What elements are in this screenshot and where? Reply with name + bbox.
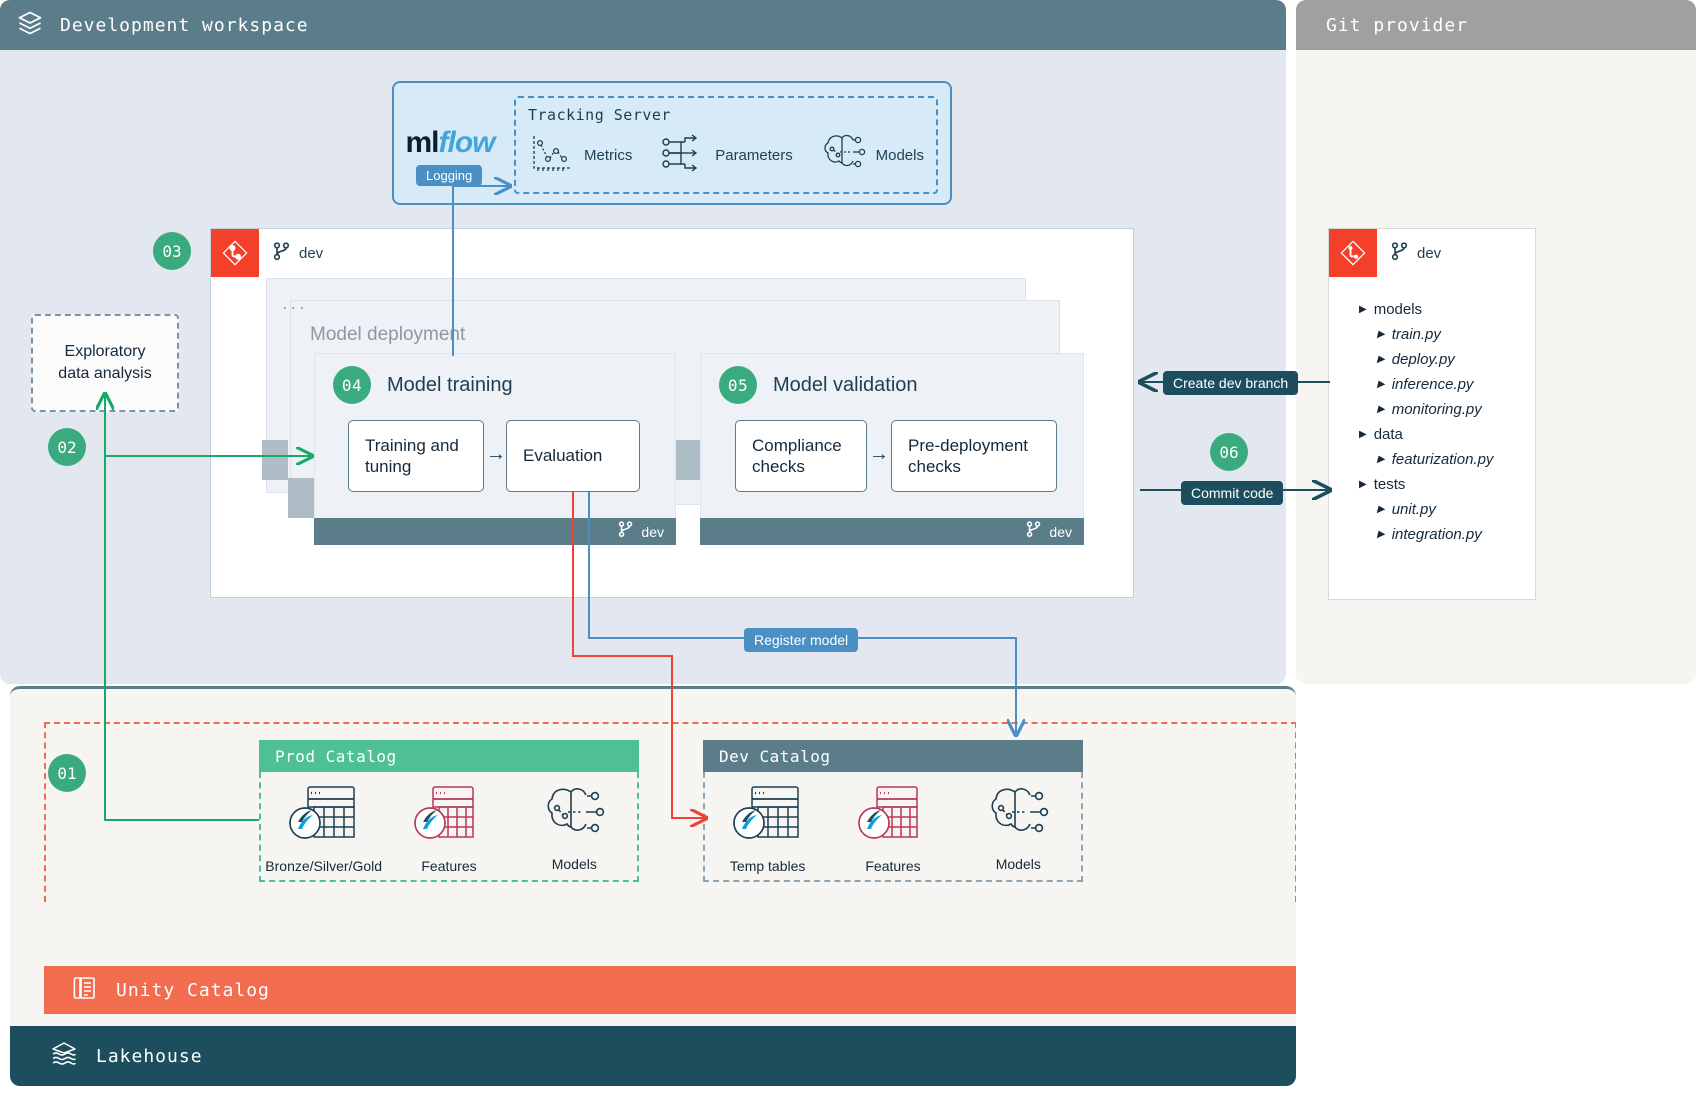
- git-diamond-icon: [1329, 229, 1377, 277]
- tree-item-monitoring-py[interactable]: ▶ monitoring.py: [1359, 401, 1493, 418]
- eda-line-1: Exploratory: [58, 341, 151, 363]
- tree-item-label: featurization.py: [1392, 451, 1494, 468]
- brain-model-icon: [820, 131, 866, 180]
- caret-right-icon: ▶: [1377, 529, 1385, 540]
- development-workspace-header: Development workspace: [0, 0, 1286, 50]
- create-dev-branch-chip: Create dev branch: [1163, 371, 1298, 395]
- catalog-item-label: Models: [552, 856, 597, 872]
- tracking-item-models: Models: [820, 131, 924, 180]
- git-provider-title: Git provider: [1326, 15, 1468, 36]
- tracking-item-label: Metrics: [584, 147, 632, 164]
- step-box-evaluation: Evaluation: [506, 420, 640, 492]
- tree-item-label: unit.py: [1392, 501, 1436, 518]
- catalog-item-label: Temp tables: [730, 858, 805, 874]
- caret-right-icon: ▶: [1377, 379, 1385, 390]
- git-branch-icon: [618, 520, 634, 543]
- layers-icon: [16, 9, 44, 42]
- eda-line-2: data analysis: [58, 363, 151, 385]
- brain-model-icon: [541, 784, 607, 849]
- delta-table-icon: [731, 784, 805, 851]
- git-branch-icon: [1026, 520, 1042, 543]
- git-file-tree: ▶ models ▶ train.py ▶ deploy.py ▶ infere…: [1359, 301, 1493, 551]
- tree-item-label: tests: [1374, 476, 1406, 493]
- tree-item-data[interactable]: ▶ data: [1359, 426, 1493, 443]
- tree-item-train-py[interactable]: ▶ train.py: [1359, 326, 1493, 343]
- git-repo-card: dev ▶ models ▶ train.py ▶ deploy.py ▶ in…: [1328, 228, 1536, 600]
- step-line-2: checks: [908, 456, 1028, 477]
- stack-tab-c: [676, 440, 702, 480]
- catalog-item-features: Features: [394, 784, 504, 874]
- catalog-item-label: Features: [421, 858, 476, 874]
- step-badge-06: 06: [1210, 433, 1248, 471]
- stage-footer-04: dev: [314, 518, 676, 545]
- commit-code-chip: Commit code: [1181, 481, 1283, 505]
- tree-item-deploy-py[interactable]: ▶ deploy.py: [1359, 351, 1493, 368]
- tree-item-label: data: [1374, 426, 1403, 443]
- stack-tab-a: [262, 440, 288, 480]
- brain-model-icon: [985, 784, 1051, 849]
- stage-footer-branch: dev: [1049, 524, 1072, 540]
- tree-item-models[interactable]: ▶ models: [1359, 301, 1493, 318]
- step-box-compliance-checks: Compliance checks: [735, 420, 867, 492]
- tree-item-label: monitoring.py: [1392, 401, 1482, 418]
- stage-number-badge: 04: [333, 366, 371, 404]
- tracking-item-label: Models: [876, 147, 924, 164]
- tracking-item-label: Parameters: [715, 147, 793, 164]
- step-line-1: Compliance: [752, 435, 842, 456]
- caret-right-icon: ▶: [1377, 404, 1385, 415]
- git-provider-header: Git provider: [1296, 0, 1696, 50]
- overflow-dots: ...: [282, 292, 308, 315]
- lakehouse-bar: Lakehouse: [10, 1026, 1296, 1086]
- register-model-chip: Register model: [744, 628, 858, 652]
- git-diamond-icon: [211, 229, 259, 277]
- lakehouse-panel: Unity Catalog Lakehouse: [10, 686, 1296, 1086]
- model-deployment-label: Model deployment: [310, 324, 465, 346]
- stage-footer-05: dev: [700, 518, 1084, 545]
- step-box-pre-deployment-checks: Pre-deployment checks: [891, 420, 1057, 492]
- catalog-book-icon: [72, 974, 98, 1007]
- mlflow-logo: mlflow: [394, 126, 506, 160]
- tree-item-label: inference.py: [1392, 376, 1474, 393]
- caret-right-icon: ▶: [1359, 429, 1367, 440]
- catalog-item-label: Features: [865, 858, 920, 874]
- step-line-2: tuning: [365, 456, 459, 477]
- dev-catalog: Dev Catalog Temp tables: [703, 740, 1083, 882]
- git-branch-icon: [273, 241, 291, 266]
- catalog-item-models: Models: [963, 784, 1073, 872]
- feature-table-icon: [856, 784, 930, 851]
- metrics-chart-icon: [528, 130, 574, 181]
- delta-table-icon: [287, 784, 361, 851]
- tree-item-inference-py[interactable]: ▶ inference.py: [1359, 376, 1493, 393]
- mlflow-logo-flow: flow: [439, 126, 495, 159]
- caret-right-icon: ▶: [1359, 479, 1367, 490]
- unity-catalog-bar: Unity Catalog: [44, 966, 1296, 1014]
- git-card-branch-label: dev: [1417, 245, 1441, 262]
- step-line-1: Evaluation: [523, 445, 602, 466]
- step-line-2: checks: [752, 456, 842, 477]
- tree-item-tests[interactable]: ▶ tests: [1359, 476, 1493, 493]
- prod-catalog: Prod Catalog Bronze/Silver/Gold: [259, 740, 639, 882]
- step-line-1: Training and: [365, 435, 459, 456]
- unity-catalog-title: Unity Catalog: [116, 980, 270, 1001]
- step-badge-02: 02: [48, 428, 86, 466]
- tree-item-featurization-py[interactable]: ▶ featurization.py: [1359, 451, 1493, 468]
- catalog-item-temp-tables: Temp tables: [713, 784, 823, 874]
- git-card-branch: dev: [1391, 241, 1441, 266]
- catalog-item-label: Models: [996, 856, 1041, 872]
- lakehouse-icon: [50, 1040, 78, 1073]
- catalog-item-bronze-silver-gold: Bronze/Silver/Gold: [269, 784, 379, 874]
- git-branch-icon: [1391, 241, 1409, 266]
- catalog-item-label: Bronze/Silver/Gold: [265, 858, 382, 874]
- stage-footer-branch: dev: [641, 524, 664, 540]
- tree-item-integration-py[interactable]: ▶ integration.py: [1359, 526, 1493, 543]
- mlflow-logo-ml: ml: [405, 126, 438, 159]
- mlflow-card: mlflow Tracking Server Metrics: [392, 81, 952, 205]
- repo-branch-label: dev: [299, 245, 323, 262]
- catalog-item-features: Features: [838, 784, 948, 874]
- tracking-item-parameters: Parameters: [659, 133, 793, 178]
- tree-item-label: deploy.py: [1392, 351, 1455, 368]
- catalog-item-models: Models: [519, 784, 629, 872]
- stage-title: Model training: [387, 374, 513, 397]
- tree-item-label: integration.py: [1392, 526, 1482, 543]
- tracking-server-box: Tracking Server Metrics: [514, 96, 938, 194]
- tree-item-label: train.py: [1392, 326, 1441, 343]
- parameters-icon: [659, 133, 705, 178]
- repo-branch: dev: [273, 241, 323, 266]
- caret-right-icon: ▶: [1377, 454, 1385, 465]
- exploratory-data-analysis-box: Exploratory data analysis: [31, 314, 179, 412]
- feature-table-icon: [412, 784, 486, 851]
- stage-number-badge: 05: [719, 366, 757, 404]
- lakehouse-title: Lakehouse: [96, 1046, 203, 1067]
- tree-item-unit-py[interactable]: ▶ unit.py: [1359, 501, 1493, 518]
- dev-catalog-title: Dev Catalog: [703, 740, 1083, 772]
- step-line-1: Pre-deployment: [908, 435, 1028, 456]
- tracking-server-title: Tracking Server: [528, 106, 924, 124]
- caret-right-icon: ▶: [1377, 354, 1385, 365]
- arrow-right-icon: →: [869, 443, 889, 466]
- arrow-right-icon: →: [486, 443, 506, 466]
- prod-catalog-title: Prod Catalog: [259, 740, 639, 772]
- unity-catalog-scope-boundary: [44, 722, 1296, 902]
- tree-item-label: models: [1374, 301, 1422, 318]
- step-badge-01: 01: [48, 754, 86, 792]
- stage-title: Model validation: [773, 374, 918, 397]
- stack-tab-b: [288, 478, 314, 518]
- caret-right-icon: ▶: [1377, 329, 1385, 340]
- logging-chip: Logging: [416, 165, 482, 186]
- caret-right-icon: ▶: [1359, 304, 1367, 315]
- caret-right-icon: ▶: [1377, 504, 1385, 515]
- page-title: Development workspace: [60, 15, 309, 36]
- step-badge-03: 03: [153, 232, 191, 270]
- step-box-training-and-tuning: Training and tuning: [348, 420, 484, 492]
- tracking-item-metrics: Metrics: [528, 130, 632, 181]
